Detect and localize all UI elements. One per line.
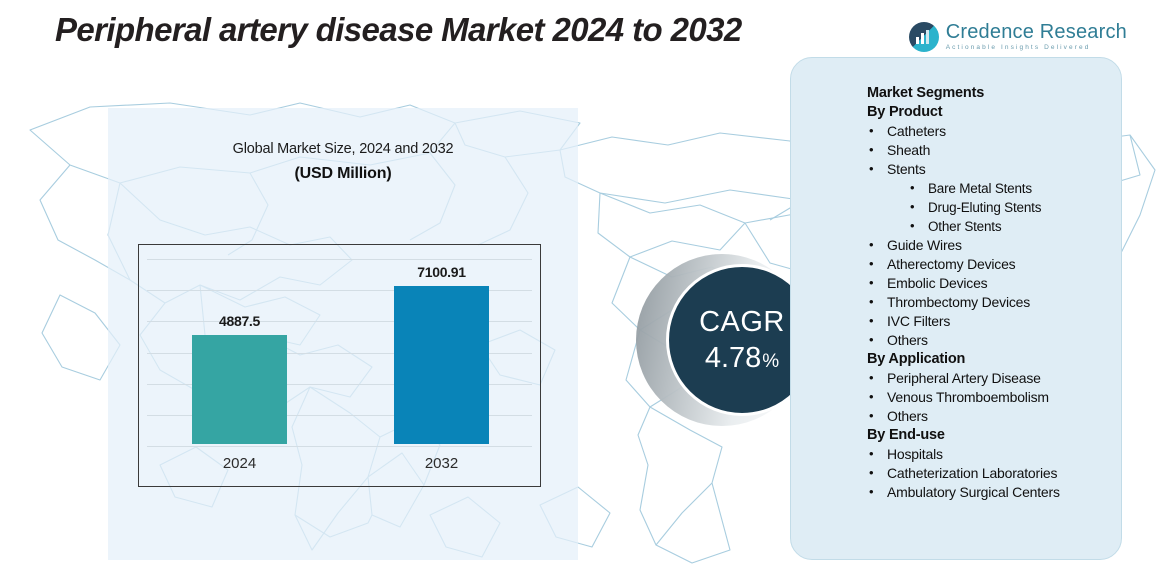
plot-area: 4887.520247100.912032 bbox=[139, 245, 540, 486]
segment-item: Hospitals bbox=[867, 445, 1117, 464]
segments-title: Market Segments bbox=[867, 84, 1117, 103]
segment-group-heading: By Product bbox=[867, 103, 1117, 122]
segment-item: Other Stents bbox=[867, 217, 1117, 236]
bar-category-label: 2032 bbox=[425, 455, 458, 472]
brand-tagline: Actionable Insights Delivered bbox=[946, 45, 1127, 52]
cagr-unit: % bbox=[762, 352, 779, 371]
brand-text: Credence Research Actionable Insights De… bbox=[946, 22, 1127, 52]
segment-item: Bare Metal Stents bbox=[867, 179, 1117, 198]
market-segments-list: Market Segments By ProductCathetersSheat… bbox=[867, 84, 1117, 502]
bar-category-label: 2024 bbox=[223, 455, 256, 472]
chart-title: Global Market Size, 2024 and 2032 bbox=[108, 141, 578, 157]
segment-item: Sheath bbox=[867, 141, 1117, 160]
bar-column: 7100.912032 bbox=[394, 286, 489, 444]
segment-item: Embolic Devices bbox=[867, 274, 1117, 293]
bar-2032[interactable] bbox=[394, 286, 489, 444]
segment-item: Atherectomy Devices bbox=[867, 255, 1117, 274]
segment-item: IVC Filters bbox=[867, 312, 1117, 331]
bar-chart-circle-icon bbox=[909, 22, 939, 52]
segment-item: Stents bbox=[867, 160, 1117, 179]
bar-group: 7100.912032 bbox=[394, 286, 489, 444]
cagr-value-row: 4.78 % bbox=[705, 344, 779, 373]
brand-logo[interactable]: Credence Research Actionable Insights De… bbox=[909, 22, 1127, 52]
page-title: Peripheral artery disease Market 2024 to… bbox=[55, 11, 742, 49]
cagr-value: 4.78 bbox=[705, 344, 761, 373]
segment-item: Drug-Eluting Stents bbox=[867, 198, 1117, 217]
logo-bars bbox=[916, 30, 929, 44]
segment-group-heading: By Application bbox=[867, 350, 1117, 369]
bar-group: 4887.52024 bbox=[192, 335, 287, 444]
brand-name: Credence Research bbox=[946, 22, 1127, 42]
segment-item: Catheterization Laboratories bbox=[867, 464, 1117, 483]
segment-item: Venous Thromboembolism bbox=[867, 388, 1117, 407]
plot-frame: 4887.520247100.912032 bbox=[138, 244, 541, 487]
segment-item: Catheters bbox=[867, 122, 1117, 141]
segment-item: Thrombectomy Devices bbox=[867, 293, 1117, 312]
bar-column: 4887.52024 bbox=[192, 335, 287, 444]
bar-2024[interactable] bbox=[192, 335, 287, 444]
cagr-label: CAGR bbox=[699, 308, 785, 337]
header: Peripheral artery disease Market 2024 to… bbox=[0, 0, 1175, 70]
chart-subtitle: (USD Million) bbox=[108, 165, 578, 183]
segment-item: Peripheral Artery Disease bbox=[867, 369, 1117, 388]
segment-group-heading: By End-use bbox=[867, 426, 1117, 445]
segment-item: Others bbox=[867, 407, 1117, 426]
bar-value-label: 4887.5 bbox=[219, 313, 260, 329]
bar-value-label: 7100.91 bbox=[417, 264, 466, 280]
chart-panel: Global Market Size, 2024 and 2032 (USD M… bbox=[108, 108, 578, 560]
segment-item: Guide Wires bbox=[867, 236, 1117, 255]
segment-item: Others bbox=[867, 331, 1117, 350]
segment-item: Ambulatory Surgical Centers bbox=[867, 483, 1117, 502]
market-segments-panel: Market Segments By ProductCathetersSheat… bbox=[790, 57, 1122, 560]
